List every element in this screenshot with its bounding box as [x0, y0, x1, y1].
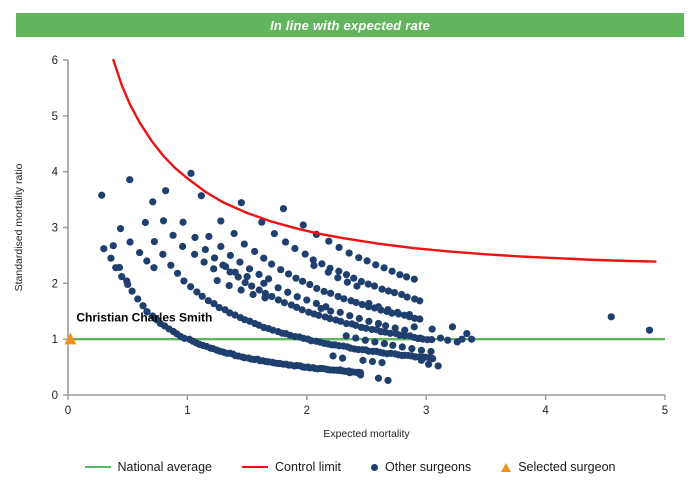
scatter-point	[340, 295, 347, 302]
scatter-point	[427, 348, 434, 355]
scatter-point	[199, 293, 206, 300]
scatter-point	[411, 323, 418, 330]
x-axis-title: Expected mortality	[323, 428, 410, 440]
scatter-point	[112, 264, 119, 271]
scatter-point	[352, 299, 359, 306]
scatter-point	[139, 302, 146, 309]
scatter-point	[378, 359, 385, 366]
legend-item-label: Selected surgeon	[518, 460, 615, 474]
scatter-point	[201, 259, 208, 266]
scatter-point	[210, 265, 217, 272]
scatter-point	[406, 311, 413, 318]
scatter-point	[255, 271, 262, 278]
scatter-point	[337, 366, 344, 373]
other-surgeons-scatter	[98, 170, 653, 384]
scatter-point	[292, 275, 299, 282]
scatter-point	[251, 248, 258, 255]
scatter-point	[160, 217, 167, 224]
scatter-point	[428, 336, 435, 343]
scatter-point	[281, 299, 288, 306]
scatter-point	[327, 308, 334, 315]
scatter-point	[418, 347, 425, 354]
scatter-point	[238, 286, 245, 293]
scatter-point	[352, 334, 359, 341]
chart-area: 0123456012345Expected mortalityStandardi…	[0, 40, 700, 450]
scatter-point	[346, 312, 353, 319]
scatter-point	[214, 277, 221, 284]
scatter-point	[315, 312, 322, 319]
scatter-point	[444, 337, 451, 344]
scatter-point	[300, 221, 307, 228]
scatter-point	[271, 230, 278, 237]
scatter-point	[369, 358, 376, 365]
scatter-point	[337, 309, 344, 316]
scatter-point	[260, 280, 267, 287]
scatter-point	[248, 282, 255, 289]
scatter-point	[191, 251, 198, 258]
scatter-point	[291, 245, 298, 252]
y-axis-tick-label: 0	[52, 390, 58, 402]
scatter-point	[187, 283, 194, 290]
scatter-point	[142, 219, 149, 226]
selected-surgeon-annotation: Christian Charles Smith	[76, 310, 212, 324]
scatter-point	[384, 377, 391, 384]
scatter-point	[429, 326, 436, 333]
status-banner: In line with expected rate	[16, 13, 684, 37]
status-banner-label: In line with expected rate	[270, 18, 430, 33]
scatter-point	[646, 327, 653, 334]
scatter-point	[343, 332, 350, 339]
scatter-point	[302, 251, 309, 258]
scatter-point	[339, 355, 346, 362]
scatter-point	[384, 306, 391, 313]
scatter-point	[128, 288, 135, 295]
scatter-point	[362, 325, 369, 332]
x-axis-tick-label: 3	[423, 405, 429, 417]
scatter-point	[169, 232, 176, 239]
y-axis-tick-label: 1	[52, 334, 58, 346]
scatter-point	[118, 273, 125, 280]
scatter-point	[150, 264, 157, 271]
scatter-point	[179, 219, 186, 226]
scatter-point	[325, 269, 332, 276]
scatter-point	[126, 176, 133, 183]
scatter-point	[408, 345, 415, 352]
scatter-point	[162, 187, 169, 194]
scatter-point	[325, 238, 332, 245]
scatter-point	[124, 281, 131, 288]
scatter-point	[136, 249, 143, 256]
scatter-point	[249, 291, 256, 298]
scatter-point	[202, 246, 209, 253]
scatter-point	[159, 251, 166, 258]
funnel-plot-svg: 0123456012345Expected mortalityStandardi…	[0, 40, 700, 450]
scatter-point	[362, 337, 369, 344]
scatter-point	[382, 322, 389, 329]
legend-control-limit[interactable]: Control limit	[242, 460, 341, 474]
scatter-point	[425, 361, 432, 368]
scatter-point	[359, 301, 366, 308]
scatter-point	[275, 284, 282, 291]
scatter-point	[98, 192, 105, 199]
scatter-point	[335, 244, 342, 251]
scatter-point	[238, 199, 245, 206]
scatter-point	[396, 271, 403, 278]
scatter-point	[151, 238, 158, 245]
scatter-point	[416, 315, 423, 322]
scatter-point	[394, 309, 401, 316]
y-axis-tick-label: 6	[52, 55, 58, 67]
scatter-point	[320, 288, 327, 295]
scatter-point	[356, 315, 363, 322]
y-axis-tick-label: 2	[52, 278, 58, 290]
scatter-point	[435, 362, 442, 369]
scatter-point	[284, 289, 291, 296]
y-axis-tick-label: 3	[52, 223, 58, 235]
scatter-point	[389, 342, 396, 349]
scatter-point	[134, 295, 141, 302]
scatter-point	[285, 270, 292, 277]
funnel-plot-page: In line with expected rate 0123456012345…	[0, 0, 700, 500]
scatter-point	[463, 330, 470, 337]
scatter-point	[222, 263, 229, 270]
scatter-point	[261, 294, 268, 301]
scatter-point	[468, 336, 475, 343]
scatter-point	[389, 268, 396, 275]
x-axis-tick-label: 1	[184, 405, 190, 417]
x-axis-tick-label: 2	[304, 405, 310, 417]
legend-line-swatch	[242, 466, 268, 468]
scatter-point	[149, 198, 156, 205]
scatter-point	[310, 262, 317, 269]
scatter-point	[608, 313, 615, 320]
scatter-point	[344, 279, 351, 286]
scatter-point	[280, 205, 287, 212]
scatter-point	[241, 240, 248, 247]
scatter-point	[236, 259, 243, 266]
scatter-point	[303, 296, 310, 303]
scatter-point	[329, 352, 336, 359]
legend-item-label: National average	[118, 460, 213, 474]
scatter-point	[346, 249, 353, 256]
scatter-point	[187, 170, 194, 177]
scatter-point	[318, 260, 325, 267]
scatter-point	[391, 289, 398, 296]
scatter-point	[334, 274, 341, 281]
scatter-point	[375, 303, 382, 310]
scatter-point	[231, 230, 238, 237]
scatter-point	[408, 352, 415, 359]
scatter-point	[107, 255, 114, 262]
scatter-point	[167, 262, 174, 269]
scatter-point	[403, 273, 410, 280]
scatter-point	[458, 336, 465, 343]
scatter-point	[306, 281, 313, 288]
scatter-point	[353, 283, 360, 290]
scatter-point	[375, 375, 382, 382]
scatter-point	[282, 238, 289, 245]
scatter-point	[375, 320, 382, 327]
scatter-point	[126, 238, 133, 245]
scatter-point	[416, 297, 423, 304]
scatter-point	[365, 300, 372, 307]
scatter-point	[299, 278, 306, 285]
scatter-point	[294, 293, 301, 300]
scatter-point	[179, 243, 186, 250]
legend-selected-surgeon[interactable]: Selected surgeon	[501, 460, 615, 474]
scatter-point	[399, 343, 406, 350]
scatter-point	[191, 234, 198, 241]
scatter-point	[417, 334, 424, 341]
x-axis-tick-label: 4	[542, 405, 549, 417]
scatter-point	[268, 261, 275, 268]
x-axis-tick-label: 5	[662, 405, 668, 417]
scatter-point	[335, 268, 342, 275]
scatter-point	[226, 282, 233, 289]
scatter-point	[260, 255, 267, 262]
y-axis-title: Standardised mortality ratio	[13, 163, 25, 291]
scatter-point	[244, 273, 251, 280]
scatter-point	[256, 286, 263, 293]
scatter-point	[359, 357, 366, 364]
chart-legend: National averageControl limitOther surge…	[0, 452, 700, 482]
scatter-point	[371, 282, 378, 289]
legend-item-label: Control limit	[275, 460, 341, 474]
legend-item-label: Other surgeons	[385, 460, 471, 474]
y-axis-tick-label: 5	[52, 111, 58, 123]
scatter-point	[411, 276, 418, 283]
scatter-point	[343, 271, 350, 278]
legend-other-surgeons[interactable]: Other surgeons	[371, 460, 471, 474]
x-axis-tick-label: 0	[65, 405, 71, 417]
scatter-point	[418, 357, 425, 364]
scatter-point	[381, 340, 388, 347]
scatter-point	[268, 293, 275, 300]
scatter-point	[117, 225, 124, 232]
legend-triangle-swatch	[501, 463, 511, 472]
scatter-point	[357, 371, 364, 378]
legend-line-swatch	[85, 466, 111, 468]
legend-dot-swatch	[371, 464, 378, 471]
scatter-point	[364, 257, 371, 264]
scatter-point	[198, 192, 205, 199]
legend-national-average[interactable]: National average	[85, 460, 213, 474]
scatter-point	[365, 318, 372, 325]
scatter-point	[110, 242, 117, 249]
scatter-point	[232, 269, 239, 276]
scatter-point	[365, 280, 372, 287]
scatter-point	[327, 290, 334, 297]
scatter-point	[404, 294, 411, 301]
scatter-point	[227, 252, 234, 259]
scatter-point	[100, 245, 107, 252]
scatter-point	[299, 306, 306, 313]
scatter-point	[143, 257, 150, 264]
scatter-point	[378, 286, 385, 293]
scatter-point	[392, 324, 399, 331]
scatter-point	[246, 265, 253, 272]
scatter-point	[401, 327, 408, 334]
scatter-point	[355, 254, 362, 261]
scatter-point	[371, 338, 378, 345]
scatter-point	[211, 254, 218, 261]
scatter-point	[318, 305, 325, 312]
scatter-point	[346, 369, 353, 376]
scatter-point	[180, 277, 187, 284]
scatter-point	[313, 285, 320, 292]
scatter-point	[437, 334, 444, 341]
scatter-point	[217, 243, 224, 250]
scatter-point	[372, 261, 379, 268]
scatter-point	[350, 275, 357, 282]
scatter-point	[174, 270, 181, 277]
scatter-point	[449, 323, 456, 330]
control-limit-curve	[113, 60, 655, 262]
scatter-point	[205, 233, 212, 240]
y-axis-tick-label: 4	[52, 167, 59, 179]
scatter-point	[217, 217, 224, 224]
scatter-point	[380, 264, 387, 271]
scatter-point	[277, 266, 284, 273]
